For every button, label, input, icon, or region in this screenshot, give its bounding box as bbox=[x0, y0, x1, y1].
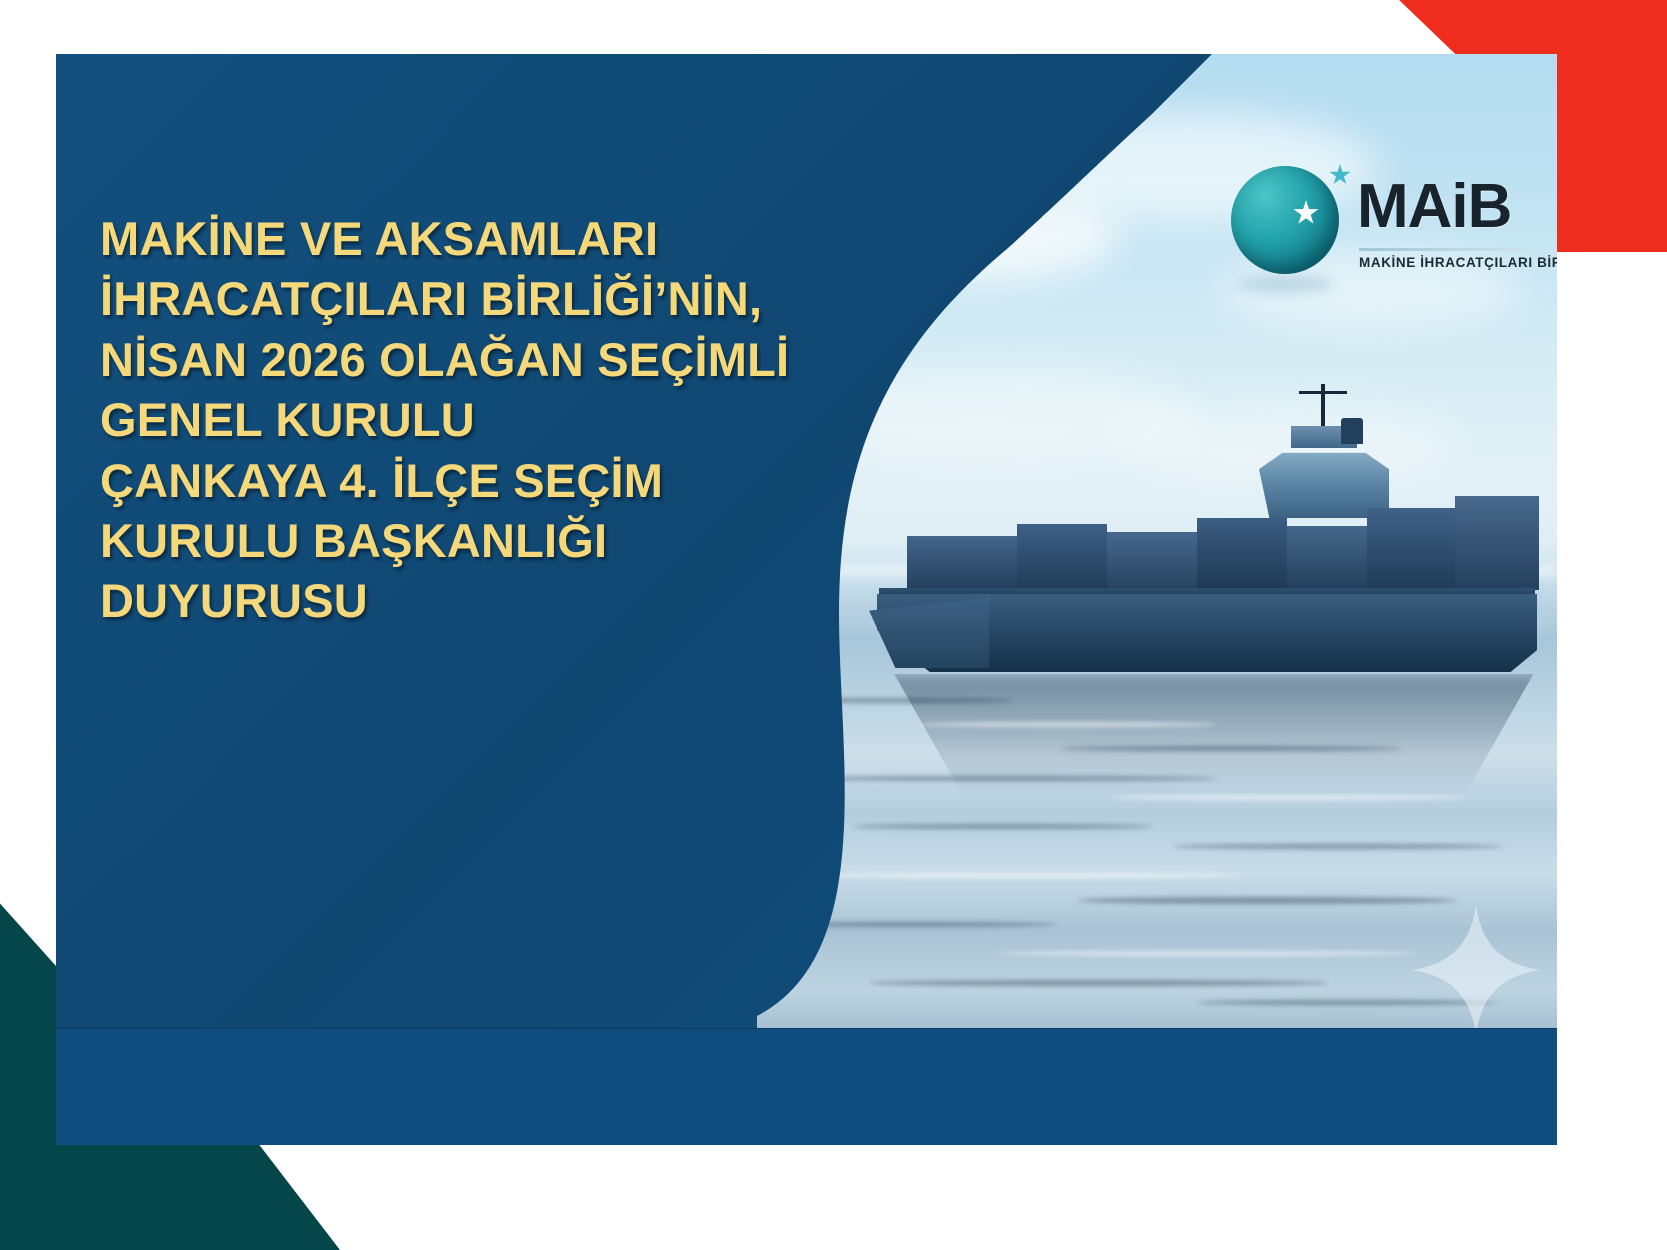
container-ship-icon bbox=[867, 434, 1547, 694]
card-footer-band bbox=[56, 1028, 1557, 1145]
sparkle-icon bbox=[1411, 905, 1541, 1029]
poster-card: MAiB MAKİNE İHRACATÇILARI BİRLİĞİ MAKİNE… bbox=[56, 54, 1557, 1145]
headline-line: NİSAN 2026 OLAĞAN SEÇİMLİ bbox=[100, 330, 900, 390]
poster-canvas: MAiB MAKİNE İHRACATÇILARI BİRLİĞİ MAKİNE… bbox=[0, 0, 1667, 1250]
headline-line: ÇANKAYA 4. İLÇE SEÇİM bbox=[100, 451, 900, 511]
maib-logo: MAiB MAKİNE İHRACATÇILARI BİRLİĞİ bbox=[1231, 158, 1531, 293]
headline-line: İHRACATÇILARI BİRLİĞİ’NİN, bbox=[100, 269, 900, 329]
headline-line: DUYURUSU bbox=[100, 571, 900, 631]
maib-tagline: MAKİNE İHRACATÇILARI BİRLİĞİ bbox=[1359, 255, 1557, 270]
page-title: MAKİNE VE AKSAMLARI İHRACATÇILARI BİRLİĞ… bbox=[100, 209, 900, 632]
headline-line: KURULU BAŞKANLIĞI bbox=[100, 511, 900, 571]
headline-line: GENEL KURULU bbox=[100, 390, 900, 450]
headline-line: MAKİNE VE AKSAMLARI bbox=[100, 209, 900, 269]
blue-star-icon bbox=[1329, 164, 1351, 186]
globe-icon bbox=[1231, 166, 1339, 274]
maib-wordmark: MAiB bbox=[1357, 176, 1511, 238]
globe-shadow bbox=[1237, 276, 1333, 292]
logo-divider bbox=[1359, 248, 1531, 251]
